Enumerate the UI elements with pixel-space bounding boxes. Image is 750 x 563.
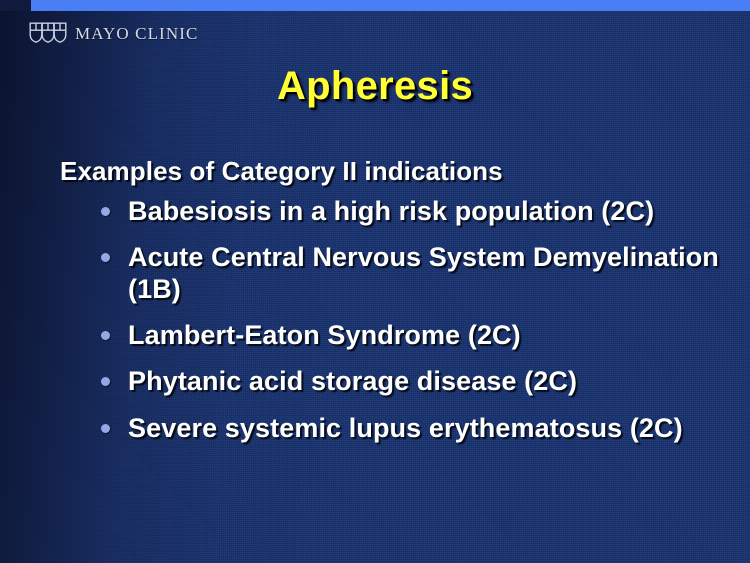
list-item-label: Severe systemic lupus erythematosus (2C) — [128, 413, 683, 443]
list-item: Babesiosis in a high risk population (2C… — [98, 196, 728, 227]
mayo-clinic-logo: MAYO CLINIC — [28, 20, 198, 47]
list-item-label: Acute Central Nervous System Demyelinati… — [128, 242, 719, 303]
list-item-label: Babesiosis in a high risk population (2C… — [128, 196, 654, 226]
bullet-list: Babesiosis in a high risk population (2C… — [60, 196, 728, 444]
list-item: Lambert-Eaton Syndrome (2C) — [98, 320, 728, 351]
mayo-clinic-shields-icon — [28, 20, 68, 47]
bullet-dot-icon — [101, 331, 110, 340]
list-item: Phytanic acid storage disease (2C) — [98, 366, 728, 397]
bullet-dot-icon — [101, 377, 110, 386]
slide-canvas: MAYO CLINIC Apheresis Examples of Catego… — [0, 0, 750, 563]
body-heading: Examples of Category II indications — [60, 156, 728, 187]
bullet-dot-icon — [101, 253, 110, 262]
mayo-clinic-wordmark: MAYO CLINIC — [75, 25, 198, 42]
top-bar-left-cap — [0, 0, 31, 11]
top-accent-bar — [31, 0, 750, 11]
slide-title: Apheresis — [0, 64, 750, 109]
bullet-dot-icon — [101, 424, 110, 433]
slide-body: Examples of Category II indications Babe… — [60, 156, 728, 459]
bullet-dot-icon — [101, 207, 110, 216]
list-item-label: Lambert-Eaton Syndrome (2C) — [128, 320, 521, 350]
list-item: Severe systemic lupus erythematosus (2C) — [98, 413, 728, 444]
list-item-label: Phytanic acid storage disease (2C) — [128, 366, 577, 396]
list-item: Acute Central Nervous System Demyelinati… — [98, 242, 728, 305]
